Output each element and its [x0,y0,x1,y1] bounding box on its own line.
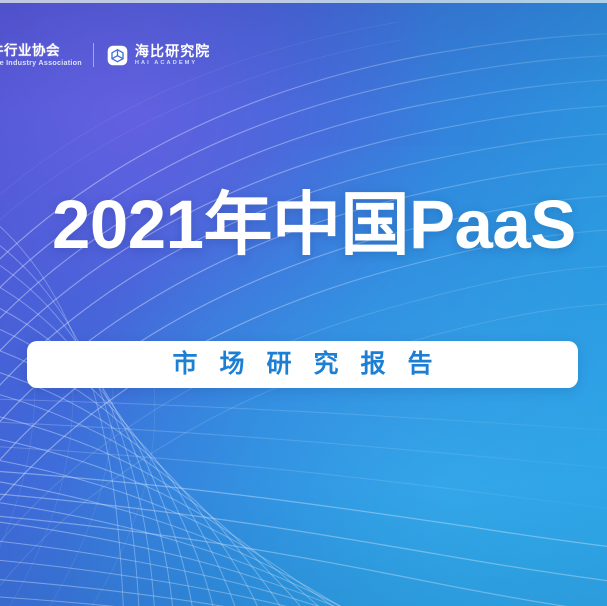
subtitle-pill: 市场研究报告 [27,341,578,388]
logo-right-english-name: HAI ACADEMY [135,60,211,67]
logo-divider [93,43,94,67]
report-title: 2021年中国PaaS [52,190,576,259]
header-logo-bar: 中国软件行业协会 China Software Industry Associa… [0,38,210,72]
logo-left-chinese-name: 中国软件行业协会 [0,43,82,59]
report-cover-poster: 中国软件行业协会 China Software Industry Associa… [0,0,607,606]
logo-hai-academy: 海比研究院 HAI ACADEMY [107,43,211,68]
logo-right-text-block: 海比研究院 HAI ACADEMY [135,43,211,68]
logo-china-software-industry-association: 中国软件行业协会 China Software Industry Associa… [0,38,82,72]
report-subtitle: 市场研究报告 [150,352,454,377]
top-edge-strip [0,0,607,3]
background-vignette [0,0,607,606]
logo-right-chinese-name: 海比研究院 [135,43,211,60]
cube-icon [107,45,128,66]
logo-left-english-name: China Software Industry Association [0,59,82,68]
